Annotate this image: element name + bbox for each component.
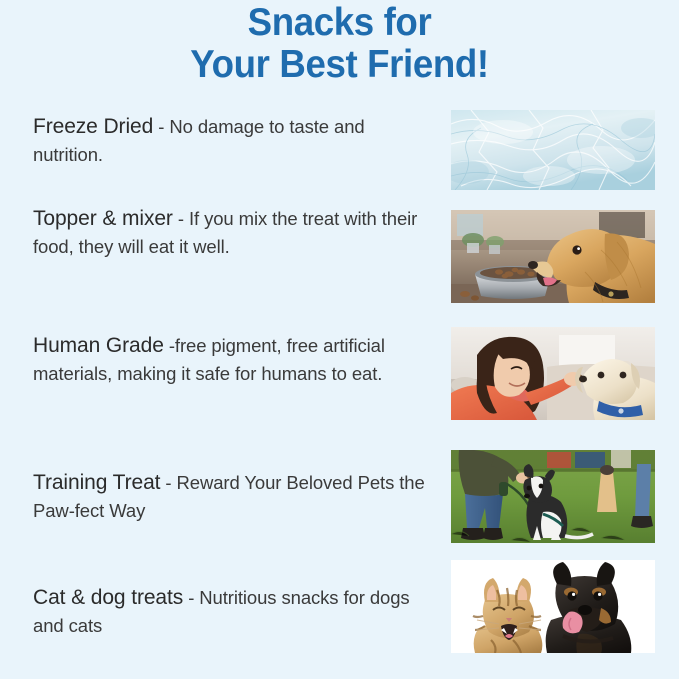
feature-list: Freeze Dried - No damage to taste and nu… <box>0 104 679 674</box>
page-title: Snacks for Your Best Friend! <box>0 2 679 86</box>
ice-texture-illustration <box>451 110 655 190</box>
feature-text-topper-mixer: Topper & mixer - If you mix the treat wi… <box>33 204 428 261</box>
cat-and-dog-illustration <box>451 560 655 653</box>
feature-row-topper-mixer: Topper & mixer - If you mix the treat wi… <box>0 204 679 322</box>
woman-and-puppy-illustration <box>451 327 655 420</box>
feature-title: Freeze Dried <box>33 115 153 138</box>
dog-training-illustration <box>451 450 655 543</box>
feature-row-cat-dog-treats: Cat & dog treats - Nutritious snacks for… <box>0 556 679 671</box>
feature-image-woman-feeding-treat-to-puppy <box>451 327 655 420</box>
feature-separator: - <box>153 116 169 137</box>
infographic-page: Snacks for Your Best Friend! Freeze Drie… <box>0 0 679 679</box>
feature-title: Topper & mixer <box>33 207 173 230</box>
feature-separator: - <box>173 208 189 229</box>
feature-text-freeze-dried: Freeze Dried - No damage to taste and nu… <box>33 112 428 169</box>
feature-image-person-training-border-collie-on-grass <box>451 450 655 543</box>
feature-row-human-grade: Human Grade -free pigment, free artifici… <box>0 322 679 444</box>
title-line-1: Snacks for <box>20 2 658 44</box>
feature-text-human-grade: Human Grade -free pigment, free artifici… <box>33 331 428 388</box>
feature-row-freeze-dried: Freeze Dried - No damage to taste and nu… <box>0 104 679 204</box>
feature-separator: - <box>160 472 176 493</box>
feature-title: Human Grade <box>33 334 164 357</box>
feature-title: Cat & dog treats <box>33 586 183 609</box>
feature-image-golden-retriever-with-food-bowl <box>451 210 655 303</box>
feature-text-training-treat: Training Treat - Reward Your Beloved Pet… <box>33 468 428 525</box>
dog-with-bowl-illustration <box>451 210 655 303</box>
feature-separator: - <box>183 587 199 608</box>
title-line-2: Your Best Friend! <box>20 44 658 86</box>
feature-text-cat-dog-treats: Cat & dog treats - Nutritious snacks for… <box>33 583 428 640</box>
feature-title: Training Treat <box>33 471 160 494</box>
feature-image-frozen-ice-texture <box>451 110 655 190</box>
feature-row-training-treat: Training Treat - Reward Your Beloved Pet… <box>0 444 679 556</box>
feature-image-tabby-cat-and-black-tan-dog-licking <box>451 560 655 653</box>
